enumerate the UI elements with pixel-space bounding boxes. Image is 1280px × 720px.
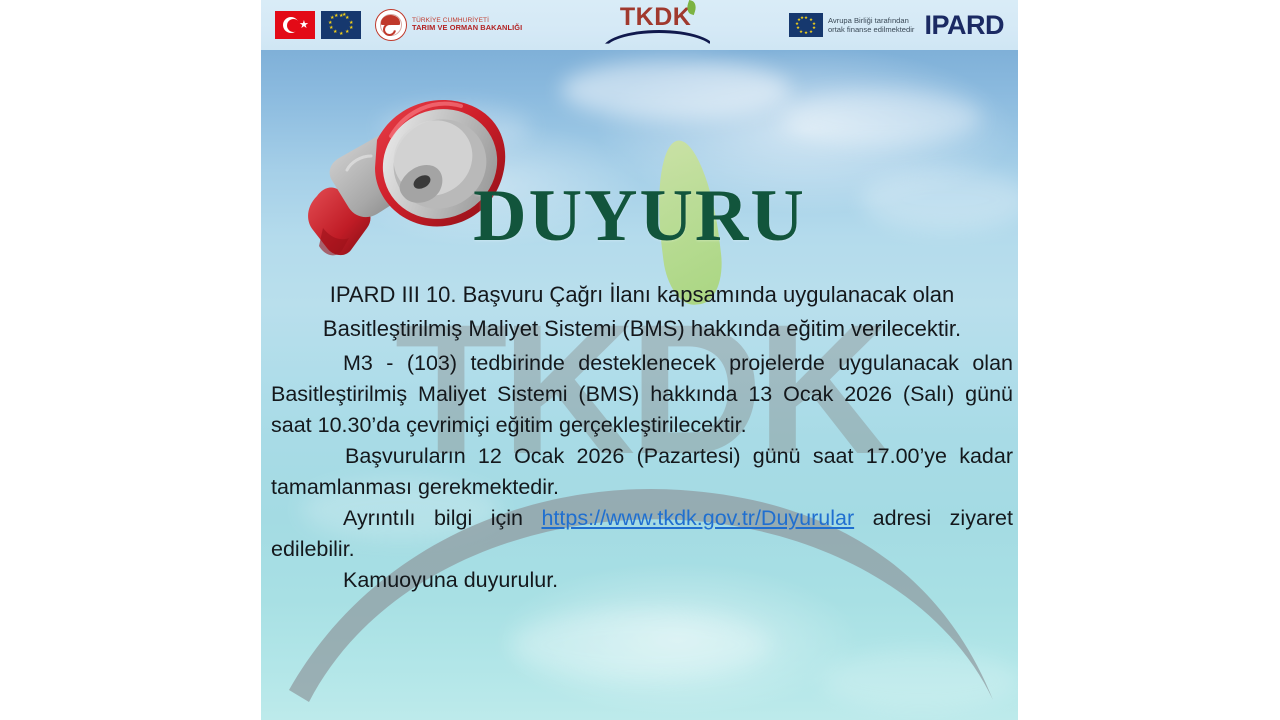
paragraph-1-text: M3 - (103) tedbirinde desteklenecek proj…	[271, 351, 1013, 437]
eu-finance-and-ipard-group: ★ ★ ★ ★ ★ ★ ★ ★ ★ ★ ★ Avrupa Birliği tar…	[789, 10, 1004, 41]
eu-finance-logo: ★ ★ ★ ★ ★ ★ ★ ★ ★ ★ ★ Avrupa Birliği tar…	[789, 13, 915, 37]
poster-body: TKDK	[261, 50, 1018, 720]
announcement-heading: IPARD III 10. Başvuru Çağrı İlanı kapsam…	[269, 278, 1015, 345]
announcement-text: IPARD III 10. Başvuru Çağrı İlanı kapsam…	[269, 278, 1015, 596]
paragraph-2-text: Başvuruların 12 Ocak 2026 (Pazartesi) gü…	[271, 444, 1013, 499]
eu-finance-line1: Avrupa Birliği tarafından	[828, 16, 915, 25]
eu-flag-icon-small: ★ ★ ★ ★ ★ ★ ★ ★ ★ ★ ★	[789, 13, 823, 37]
announcement-paragraph-1: M3 - (103) tedbirinde desteklenecek proj…	[269, 348, 1015, 441]
arc-icon	[602, 30, 710, 46]
ministry-line2: TARIM VE ORMAN BAKANLIĞI	[412, 24, 522, 32]
announcement-paragraph-3: Ayrıntılı bilgi için https://www.tkdk.go…	[269, 503, 1015, 565]
paragraph-3-before-text: Ayrıntılı bilgi için	[343, 506, 541, 530]
eu-flag-icon: ★ ★ ★ ★ ★ ★ ★ ★ ★ ★ ★ ★	[321, 11, 361, 39]
ipard-wordmark: IPARD	[924, 10, 1004, 41]
flags-and-ministry-group: ★ ★ ★ ★ ★ ★ ★ ★ ★ ★ ★ ★ ★	[275, 9, 522, 41]
announcement-paragraph-4: Kamuoyuna duyurulur.	[269, 565, 1015, 596]
page-title: DUYURU	[261, 175, 1018, 257]
ministry-emblem-icon	[375, 9, 407, 41]
announcement-paragraph-2: Başvuruların 12 Ocak 2026 (Pazartesi) gü…	[269, 441, 1015, 503]
header-logo-bar: ★ ★ ★ ★ ★ ★ ★ ★ ★ ★ ★ ★ ★	[261, 0, 1018, 51]
paragraph-4-text: Kamuoyuna duyurulur.	[343, 568, 558, 592]
announcement-poster-page: ★ ★ ★ ★ ★ ★ ★ ★ ★ ★ ★ ★ ★	[0, 0, 1280, 720]
tkdk-announcements-link[interactable]: https://www.tkdk.gov.tr/Duyurular	[541, 506, 854, 530]
ministry-logo: TÜRKİYE CUMHURİYETİ TARIM VE ORMAN BAKAN…	[375, 9, 522, 41]
tkdk-logo: TKDK	[602, 4, 710, 46]
eu-finance-line2: ortak finanse edilmektedir	[828, 25, 915, 34]
turkey-flag-icon: ★	[275, 11, 315, 39]
